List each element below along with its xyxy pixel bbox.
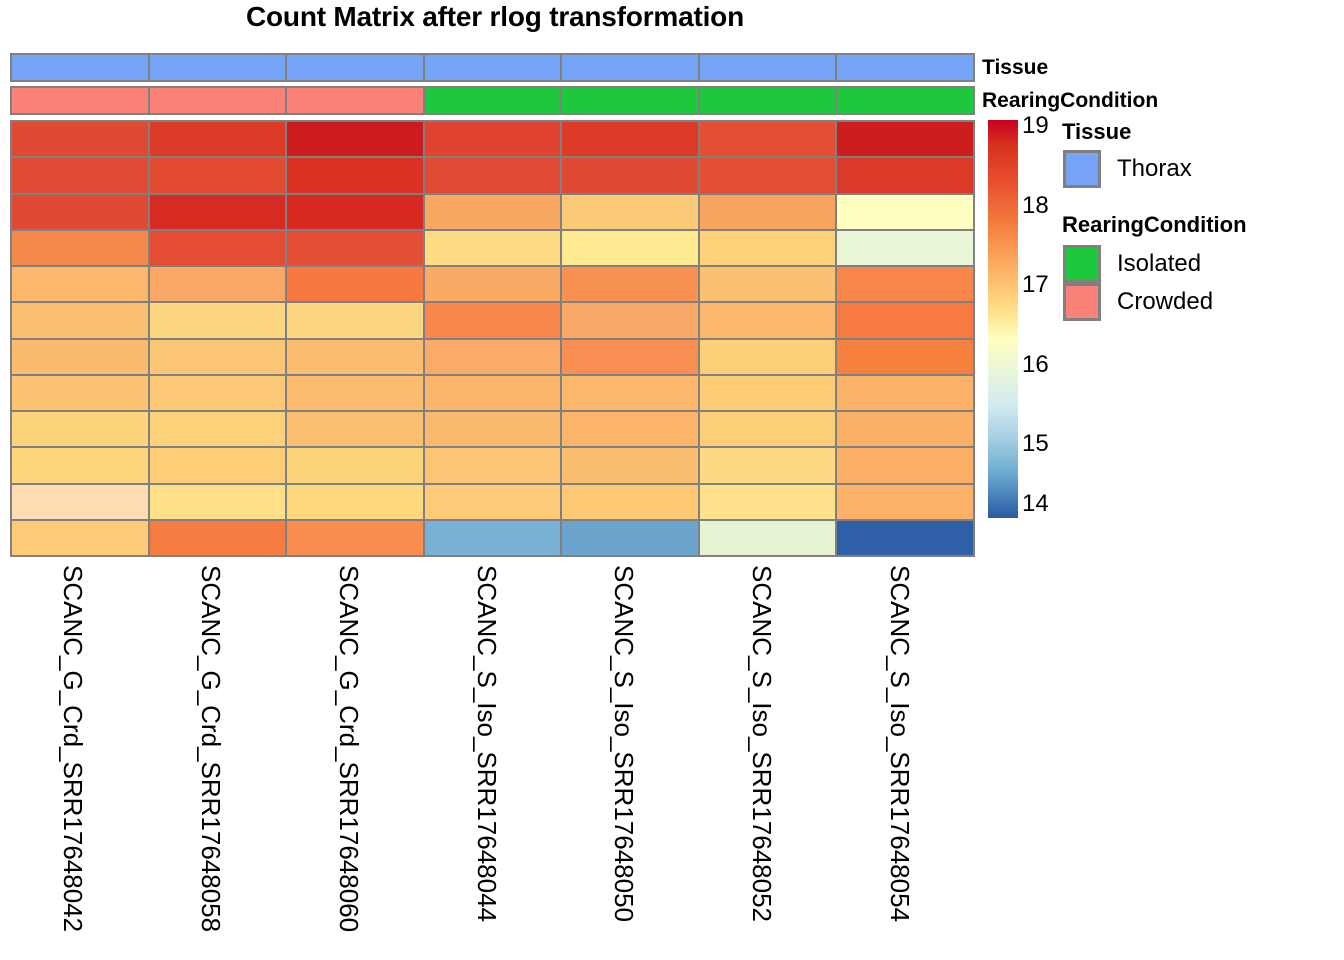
- heatmap-cell: [287, 521, 425, 555]
- heatmap-cell: [837, 231, 973, 265]
- heatmap-cell: [150, 376, 288, 410]
- column-label: SCANC_S_Iso_SRR17648044: [471, 565, 502, 922]
- annotation-cell: [562, 88, 700, 113]
- heatmap-cell: [12, 521, 150, 555]
- heatmap-cell: [425, 267, 563, 301]
- heatmap-cell: [150, 412, 288, 446]
- annotation-cell: [425, 88, 563, 113]
- heatmap-cell: [700, 376, 838, 410]
- column-label-slot: SCANC_S_Iso_SRR17648044: [424, 557, 562, 957]
- heatmap-cell: [150, 195, 288, 229]
- heatmap-cell: [150, 158, 288, 192]
- column-label: SCANC_S_Iso_SRR17648052: [746, 565, 777, 922]
- heatmap-cell: [562, 485, 700, 519]
- annotation-cell: [287, 55, 425, 80]
- column-label: SCANC_G_Crd_SRR17648058: [195, 565, 226, 932]
- heatmap-cell: [837, 340, 973, 374]
- heatmap-row: [12, 448, 973, 484]
- heatmap-cell: [287, 267, 425, 301]
- heatmap-row: [12, 122, 973, 158]
- annotation-cell: [425, 55, 563, 80]
- heatmap-cell: [12, 448, 150, 482]
- heatmap-cell: [837, 267, 973, 301]
- heatmap-cell: [425, 376, 563, 410]
- heatmap-cell: [700, 340, 838, 374]
- colorbar-tick-label: 14: [1022, 492, 1049, 516]
- colorbar-tick-label: 19: [1022, 114, 1049, 138]
- heatmap-cell: [562, 340, 700, 374]
- heatmap-cell: [425, 122, 563, 156]
- heatmap-cell: [562, 267, 700, 301]
- heatmap-row: [12, 412, 973, 448]
- annotation-cell: [700, 88, 838, 113]
- heatmap-cell: [425, 521, 563, 555]
- heatmap-cell: [425, 158, 563, 192]
- colorbar-tick-label: 17: [1022, 273, 1049, 297]
- column-label-slot: SCANC_S_Iso_SRR17648050: [561, 557, 699, 957]
- heatmap-cell: [837, 122, 973, 156]
- heatmap-cell: [837, 521, 973, 555]
- heatmap-cell: [562, 158, 700, 192]
- heatmap-cell: [562, 412, 700, 446]
- heatmap-row: [12, 485, 973, 521]
- column-label: SCANC_G_Crd_SRR17648060: [333, 565, 364, 932]
- heatmap-row: [12, 303, 973, 339]
- heatmap-cell: [562, 303, 700, 337]
- heatmap-cell: [150, 521, 288, 555]
- legend-title-rearingcondition: RearingCondition: [1062, 212, 1247, 238]
- heatmap-cell: [12, 376, 150, 410]
- column-label-slot: SCANC_G_Crd_SRR17648060: [286, 557, 424, 957]
- column-label-slot: SCANC_G_Crd_SRR17648042: [10, 557, 148, 957]
- heatmap-row: [12, 195, 973, 231]
- column-label: SCANC_S_Iso_SRR17648050: [608, 565, 639, 922]
- heatmap-cell: [150, 340, 288, 374]
- heatmap-row: [12, 267, 973, 303]
- column-label-slot: SCANC_S_Iso_SRR17648052: [699, 557, 837, 957]
- heatmap-cell: [562, 448, 700, 482]
- heatmap-cell: [562, 231, 700, 265]
- heatmap-cell: [700, 158, 838, 192]
- heatmap-cell: [12, 122, 150, 156]
- heatmap-cell: [425, 485, 563, 519]
- heatmap-cell: [700, 521, 838, 555]
- heatmap-cell: [150, 122, 288, 156]
- heatmap-cell: [700, 122, 838, 156]
- heatmap-cell: [287, 158, 425, 192]
- heatmap-cell: [12, 340, 150, 374]
- heatmap-cell: [150, 303, 288, 337]
- annotation-cell: [12, 55, 150, 80]
- heatmap-cell: [287, 122, 425, 156]
- heatmap-cell: [287, 485, 425, 519]
- heatmap-cell: [150, 485, 288, 519]
- annotation-cell: [287, 88, 425, 113]
- tissue-annotation-label: Tissue: [982, 56, 1048, 80]
- heatmap-figure: Count Matrix after rlog transformation T…: [0, 0, 1344, 960]
- rearing-annotation-bar: [10, 86, 975, 115]
- heatmap-cell: [837, 412, 973, 446]
- heatmap-row: [12, 521, 973, 555]
- heatmap-cell: [837, 195, 973, 229]
- rearing-annotation-label: RearingCondition: [982, 89, 1158, 113]
- heatmap-cell: [150, 448, 288, 482]
- heatmap-cell: [837, 303, 973, 337]
- heatmap-cell: [562, 376, 700, 410]
- heatmap-cell: [287, 231, 425, 265]
- heatmap-cell: [287, 376, 425, 410]
- heatmap-cell: [562, 521, 700, 555]
- annotation-cell: [837, 55, 973, 80]
- heatmap-cell: [12, 267, 150, 301]
- heatmap-cell: [287, 303, 425, 337]
- column-label: SCANC_G_Crd_SRR17648042: [57, 565, 88, 932]
- legend-title-tissue: Tissue: [1062, 119, 1131, 145]
- annotation-cell: [562, 55, 700, 80]
- annotation-cell: [837, 88, 973, 113]
- heatmap-row: [12, 340, 973, 376]
- heatmap-cell: [562, 195, 700, 229]
- tissue-annotation-bar: [10, 53, 975, 82]
- legend-key-thorax: [1063, 150, 1101, 188]
- legend-key-isolated: [1063, 245, 1101, 283]
- heatmap-cell: [425, 340, 563, 374]
- heatmap-cell: [425, 448, 563, 482]
- heatmap-cell: [837, 376, 973, 410]
- heatmap-grid: [10, 120, 975, 557]
- legend-label-thorax: Thorax: [1117, 155, 1192, 183]
- colorbar-tick-label: 15: [1022, 432, 1049, 456]
- heatmap-cell: [700, 231, 838, 265]
- annotation-cell: [12, 88, 150, 113]
- heatmap-cell: [12, 412, 150, 446]
- heatmap-cell: [700, 485, 838, 519]
- heatmap-cell: [150, 231, 288, 265]
- heatmap-cell: [425, 412, 563, 446]
- heatmap-cell: [700, 448, 838, 482]
- colorbar-tick-label: 16: [1022, 353, 1049, 377]
- heatmap-cell: [562, 122, 700, 156]
- annotation-cell: [700, 55, 838, 80]
- heatmap-cell: [12, 485, 150, 519]
- value-colorbar: [988, 120, 1018, 518]
- legend-label-isolated: Isolated: [1117, 250, 1201, 278]
- heatmap-row: [12, 158, 973, 194]
- heatmap-cell: [837, 448, 973, 482]
- heatmap-cell: [700, 303, 838, 337]
- heatmap-cell: [12, 195, 150, 229]
- heatmap-cell: [700, 412, 838, 446]
- heatmap-cell: [425, 231, 563, 265]
- column-label-slot: SCANC_G_Crd_SRR17648058: [148, 557, 286, 957]
- heatmap-cell: [12, 303, 150, 337]
- column-labels: SCANC_G_Crd_SRR17648042SCANC_G_Crd_SRR17…: [10, 557, 975, 957]
- heatmap-cell: [425, 303, 563, 337]
- heatmap-cell: [837, 158, 973, 192]
- heatmap-cell: [837, 485, 973, 519]
- heatmap-cell: [425, 195, 563, 229]
- heatmap-cell: [12, 231, 150, 265]
- annotation-cell: [150, 55, 288, 80]
- heatmap-cell: [287, 195, 425, 229]
- column-label-slot: SCANC_S_Iso_SRR17648054: [837, 557, 975, 957]
- heatmap-row: [12, 231, 973, 267]
- heatmap-cell: [287, 412, 425, 446]
- legend-key-crowded: [1063, 283, 1101, 321]
- heatmap-cell: [287, 340, 425, 374]
- heatmap-cell: [287, 448, 425, 482]
- colorbar-tick-label: 18: [1022, 194, 1049, 218]
- heatmap-cell: [12, 158, 150, 192]
- page-title: Count Matrix after rlog transformation: [0, 1, 990, 33]
- heatmap-cell: [700, 195, 838, 229]
- heatmap-cell: [150, 267, 288, 301]
- column-label: SCANC_S_Iso_SRR17648054: [884, 565, 915, 922]
- heatmap-row: [12, 376, 973, 412]
- legend-label-crowded: Crowded: [1117, 288, 1213, 316]
- heatmap-cell: [700, 267, 838, 301]
- annotation-cell: [150, 88, 288, 113]
